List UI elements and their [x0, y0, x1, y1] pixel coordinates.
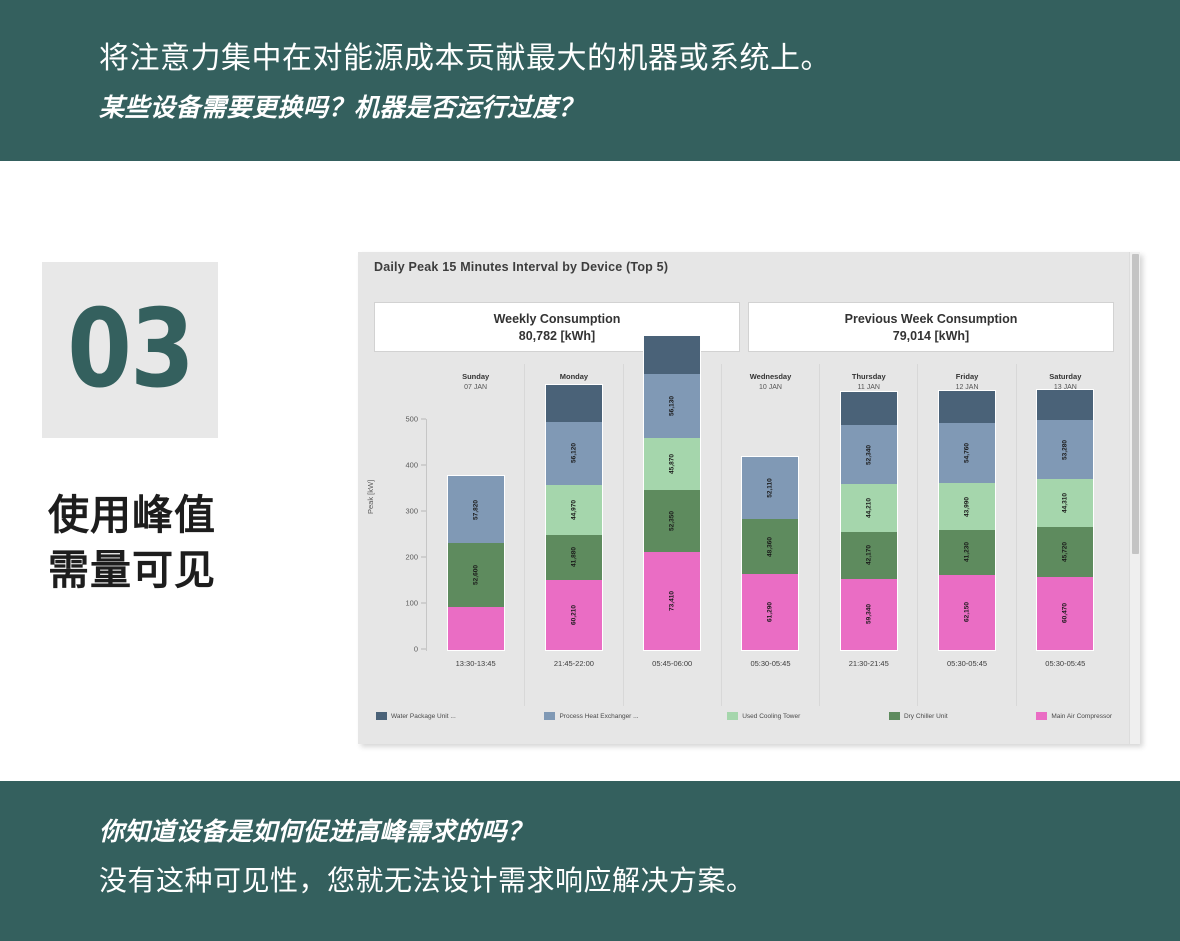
y-axis-tick-label: 500 [405, 415, 418, 424]
y-axis-tick-label: 0 [414, 645, 418, 654]
y-axis-tick-label: 100 [405, 599, 418, 608]
legend-label: Used Cooling Tower [742, 713, 800, 720]
bar-segment[interactable]: 45,720 [1037, 527, 1093, 577]
chart-column: Tuesday09 JAN56,13045,87052,35073,41005:… [624, 364, 722, 706]
bar-segment-label: 48,360 [767, 537, 774, 557]
chart-legend: Water Package Unit ...Process Heat Excha… [374, 712, 1114, 720]
bar-segment[interactable]: 73,410 [644, 552, 700, 650]
bar-segment-label: 62,150 [964, 602, 971, 622]
stacked-bar[interactable]: 56,13045,87052,35073,410 [643, 335, 701, 651]
column-peak-time: 05:45-06:00 [624, 659, 721, 668]
bar-segment[interactable]: 52,350 [644, 490, 700, 552]
bar-segment-label: 43,990 [964, 497, 971, 517]
bar-segment[interactable]: 42,170 [841, 532, 897, 579]
bar-segment-label: 60,210 [570, 605, 577, 625]
bar-segment[interactable]: 44,210 [841, 484, 897, 532]
stacked-bar-chart: Peak [kW] 5004003002001000 Sunday07 JAN5… [374, 364, 1114, 706]
scrollbar-thumb[interactable] [1132, 254, 1139, 554]
chart-column: Sunday07 JAN57,82052,60013:30-13:45 [427, 364, 525, 706]
bar-segment-label: 61,290 [767, 602, 774, 622]
bar-segment-label: 42,170 [865, 545, 872, 565]
bar-segment[interactable]: 44,310 [1037, 479, 1093, 527]
legend-item[interactable]: Process Heat Exchanger ... [544, 712, 638, 720]
bar-segment[interactable]: 44,970 [546, 485, 602, 535]
bar-segment[interactable]: 41,230 [939, 530, 995, 575]
vertical-scrollbar[interactable] [1129, 252, 1140, 744]
column-peak-time: 21:45-22:00 [525, 659, 622, 668]
bar-segment-label: 41,880 [570, 547, 577, 567]
bar-segment[interactable]: 52,110 [742, 457, 798, 519]
bar-segment[interactable]: 54,760 [939, 423, 995, 484]
bar-segment-label: 60,470 [1062, 603, 1069, 623]
legend-item[interactable]: Water Package Unit ... [376, 712, 456, 720]
column-peak-time: 21:30-21:45 [820, 659, 917, 668]
bar-segment[interactable]: 48,360 [742, 519, 798, 573]
bar-segment-label: 52,600 [472, 565, 479, 585]
column-header: Thursday11 JAN [820, 372, 917, 393]
bar-segment[interactable] [1037, 390, 1093, 420]
legend-item[interactable]: Used Cooling Tower [727, 712, 800, 720]
legend-item[interactable]: Main Air Compressor [1036, 712, 1112, 720]
stacked-bar[interactable]: 56,12044,97041,88060,210 [545, 384, 603, 651]
bar-segment-label: 45,720 [1062, 542, 1069, 562]
bar-segment-label: 57,820 [472, 500, 479, 520]
legend-swatch [727, 712, 738, 720]
bar-segment[interactable]: 52,340 [841, 425, 897, 485]
kpi-label: Weekly Consumption [494, 312, 621, 326]
step-number: 03 [67, 296, 193, 404]
kpi-value: 80,782 [kWh] [519, 329, 595, 343]
column-peak-time: 05:30-05:45 [1017, 659, 1114, 668]
bottom-banner-line-2: 没有这种可见性，您就无法设计需求响应解决方案。 [99, 859, 755, 899]
kpi-row: Weekly Consumption 80,782 [kWh] Previous… [374, 302, 1114, 352]
chart-column: Thursday11 JAN52,34044,21042,17059,34021… [820, 364, 918, 706]
bar-segment[interactable]: 53,280 [1037, 420, 1093, 480]
bar-segment[interactable]: 62,150 [939, 575, 995, 650]
top-banner: 将注意力集中在对能源成本贡献最大的机器或系统上。 某些设备需要更换吗？机器是否运… [0, 0, 1180, 161]
legend-label: Main Air Compressor [1051, 713, 1112, 720]
bar-segment-label: 53,280 [1062, 440, 1069, 460]
y-axis-tick-label: 400 [405, 461, 418, 470]
bar-segment[interactable]: 56,130 [644, 374, 700, 439]
legend-label: Dry Chiller Unit [904, 713, 948, 720]
y-axis-tick-label: 200 [405, 553, 418, 562]
bar-segment[interactable]: 59,340 [841, 579, 897, 650]
kpi-label: Previous Week Consumption [845, 312, 1018, 326]
y-axis: 5004003002001000 [374, 419, 426, 649]
bar-segment[interactable]: 60,210 [546, 580, 602, 650]
y-axis-tick-label: 300 [405, 507, 418, 516]
column-day-label: Wednesday [722, 372, 819, 383]
column-peak-time: 13:30-13:45 [427, 659, 524, 668]
legend-item[interactable]: Dry Chiller Unit [889, 712, 948, 720]
legend-swatch [1036, 712, 1047, 720]
bar-segment-label: 41,230 [964, 542, 971, 562]
column-peak-time: 05:30-05:45 [722, 659, 819, 668]
bar-segment[interactable]: 45,870 [644, 438, 700, 490]
chart-column: Monday08 JAN56,12044,97041,88060,21021:4… [525, 364, 623, 706]
legend-label: Water Package Unit ... [391, 713, 456, 720]
panel-title: Daily Peak 15 Minutes Interval by Device… [374, 260, 668, 274]
bar-segment-label: 44,970 [570, 500, 577, 520]
chart-columns: Sunday07 JAN57,82052,60013:30-13:45Monda… [427, 364, 1114, 706]
kpi-value: 79,014 [kWh] [893, 329, 969, 343]
kpi-card-previous-week-consumption: Previous Week Consumption 79,014 [kWh] [748, 302, 1114, 352]
legend-swatch [376, 712, 387, 720]
bar-segment-label: 56,130 [669, 396, 676, 416]
chart-column: Friday12 JAN54,76043,99041,23062,15005:3… [918, 364, 1016, 706]
bar-segment[interactable]: 61,290 [742, 574, 798, 650]
stacked-bar[interactable]: 57,82052,600 [447, 475, 505, 651]
bar-segment-label: 44,310 [1062, 493, 1069, 513]
chart-column: Saturday13 JAN53,28044,31045,72060,47005… [1017, 364, 1114, 706]
chart-column: Wednesday10 JAN52,11048,36061,29005:30-0… [722, 364, 820, 706]
column-header: Sunday07 JAN [427, 372, 524, 393]
bar-segment[interactable]: 60,470 [1037, 577, 1093, 650]
bar-segment[interactable] [448, 607, 504, 651]
dashboard-panel: Daily Peak 15 Minutes Interval by Device… [358, 252, 1140, 744]
section-heading: 使用峰值 需量可见 [48, 488, 216, 597]
column-header: Wednesday10 JAN [722, 372, 819, 393]
stacked-bar[interactable]: 54,76043,99041,23062,150 [938, 390, 996, 651]
column-date-label: 10 JAN [722, 383, 819, 393]
step-number-box: 03 [42, 262, 218, 438]
bar-segment[interactable] [644, 336, 700, 374]
column-day-label: Sunday [427, 372, 524, 383]
bar-segment-label: 59,340 [865, 604, 872, 624]
bar-segment-label: 52,110 [767, 478, 774, 498]
bar-segment-label: 52,350 [669, 511, 676, 531]
bar-segment-label: 44,210 [865, 498, 872, 518]
bar-segment-label: 45,870 [669, 454, 676, 474]
bar-segment[interactable]: 56,120 [546, 422, 602, 486]
bar-segment[interactable]: 41,880 [546, 535, 602, 580]
top-banner-line-2: 某些设备需要更换吗？机器是否运行过度？ [99, 88, 584, 124]
bar-segment[interactable]: 57,820 [448, 476, 504, 543]
legend-label: Process Heat Exchanger ... [559, 713, 638, 720]
bottom-banner: 你知道设备是如何促进高峰需求的吗？ 没有这种可见性，您就无法设计需求响应解决方案… [0, 781, 1180, 941]
bar-segment-label: 52,340 [865, 445, 872, 465]
stacked-bar[interactable]: 53,28044,31045,72060,470 [1036, 389, 1094, 651]
column-day-label: Monday [525, 372, 622, 383]
top-banner-line-1: 将注意力集中在对能源成本贡献最大的机器或系统上。 [99, 33, 831, 77]
column-day-label: Saturday [1017, 372, 1114, 383]
stacked-bar[interactable]: 52,11048,36061,290 [741, 456, 799, 651]
legend-swatch [544, 712, 555, 720]
stacked-bar[interactable]: 52,34044,21042,17059,340 [840, 391, 898, 651]
bar-segment[interactable] [546, 385, 602, 422]
page-root: 将注意力集中在对能源成本贡献最大的机器或系统上。 某些设备需要更换吗？机器是否运… [0, 0, 1180, 941]
column-day-label: Thursday [820, 372, 917, 383]
column-day-label: Friday [918, 372, 1015, 383]
bar-segment[interactable]: 52,600 [448, 543, 504, 606]
bar-segment-label: 56,120 [570, 444, 577, 464]
bar-segment-label: 54,760 [964, 443, 971, 463]
bar-segment[interactable]: 43,990 [939, 483, 995, 530]
column-peak-time: 05:30-05:45 [918, 659, 1015, 668]
bar-segment[interactable] [841, 392, 897, 425]
bar-segment[interactable] [939, 391, 995, 423]
bottom-banner-line-1: 你知道设备是如何促进高峰需求的吗？ [99, 812, 533, 848]
bar-segment-label: 73,410 [669, 591, 676, 611]
legend-swatch [889, 712, 900, 720]
column-date-label: 07 JAN [427, 383, 524, 393]
